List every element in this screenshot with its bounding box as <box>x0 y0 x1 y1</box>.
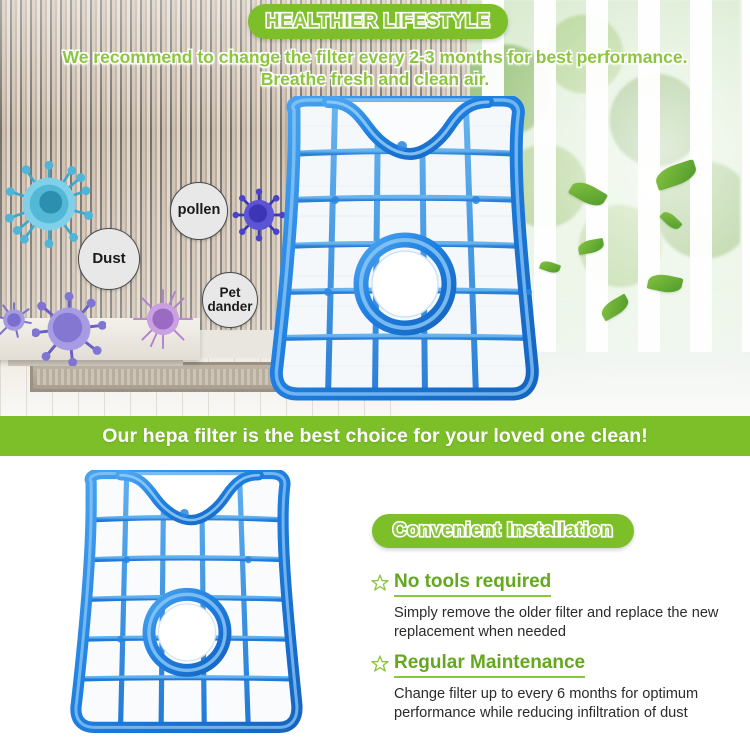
green-banner: Our hepa filter is the best choice for y… <box>0 416 750 456</box>
feature-body: Change filter up to every 6 months for o… <box>394 685 745 722</box>
subtitle-block: We recommend to change the filter every … <box>0 46 750 91</box>
feature-title: No tools required <box>394 571 551 597</box>
top-banner-label: HEALTHIER LIFESTYLE <box>266 11 490 33</box>
installation-badge-label: Convenient Installation <box>393 520 614 542</box>
green-banner-label: Our hepa filter is the best choice for y… <box>102 425 648 448</box>
subtitle-line-2: Breathe fresh and clean air. <box>0 68 750 90</box>
allergen-particle-violet <box>132 288 194 350</box>
bottom-section: Convenient Installation No tools require… <box>0 456 750 750</box>
feature-body: Simply remove the older filter and repla… <box>394 604 745 641</box>
hepa-filter-secondary <box>42 470 332 736</box>
callout-label: pollen <box>178 203 221 218</box>
allergen-particle-violet-small <box>0 300 34 340</box>
allergen-particle-purple <box>32 292 106 366</box>
product-infographic: Dust pollen Pet dander HEALTHIER LIFESTY… <box>0 0 750 750</box>
callout-bubble-dust: Dust <box>78 228 140 290</box>
hepa-filter-graphic-2 <box>42 470 332 736</box>
callout-label: Dust <box>92 251 125 267</box>
top-banner-badge: HEALTHIER LIFESTYLE <box>248 4 508 39</box>
feature-regular-maintenance: Regular Maintenance Change filter up to … <box>370 652 745 722</box>
callout-bubble-pollen: pollen <box>170 182 228 240</box>
subtitle-line-1: We recommend to change the filter every … <box>0 46 750 68</box>
callout-bubble-pet-dander: Pet dander <box>202 272 258 328</box>
allergen-particle-cyan <box>5 160 93 248</box>
installation-badge: Convenient Installation <box>372 514 634 548</box>
feature-title: Regular Maintenance <box>394 652 585 678</box>
hepa-filter-graphic <box>250 96 560 404</box>
feature-no-tools-required: No tools required Simply remove the olde… <box>370 571 745 641</box>
star-outline-icon <box>370 573 390 593</box>
callout-label: Pet dander <box>203 286 257 314</box>
hepa-filter-main <box>250 96 560 404</box>
star-outline-icon <box>370 654 390 674</box>
